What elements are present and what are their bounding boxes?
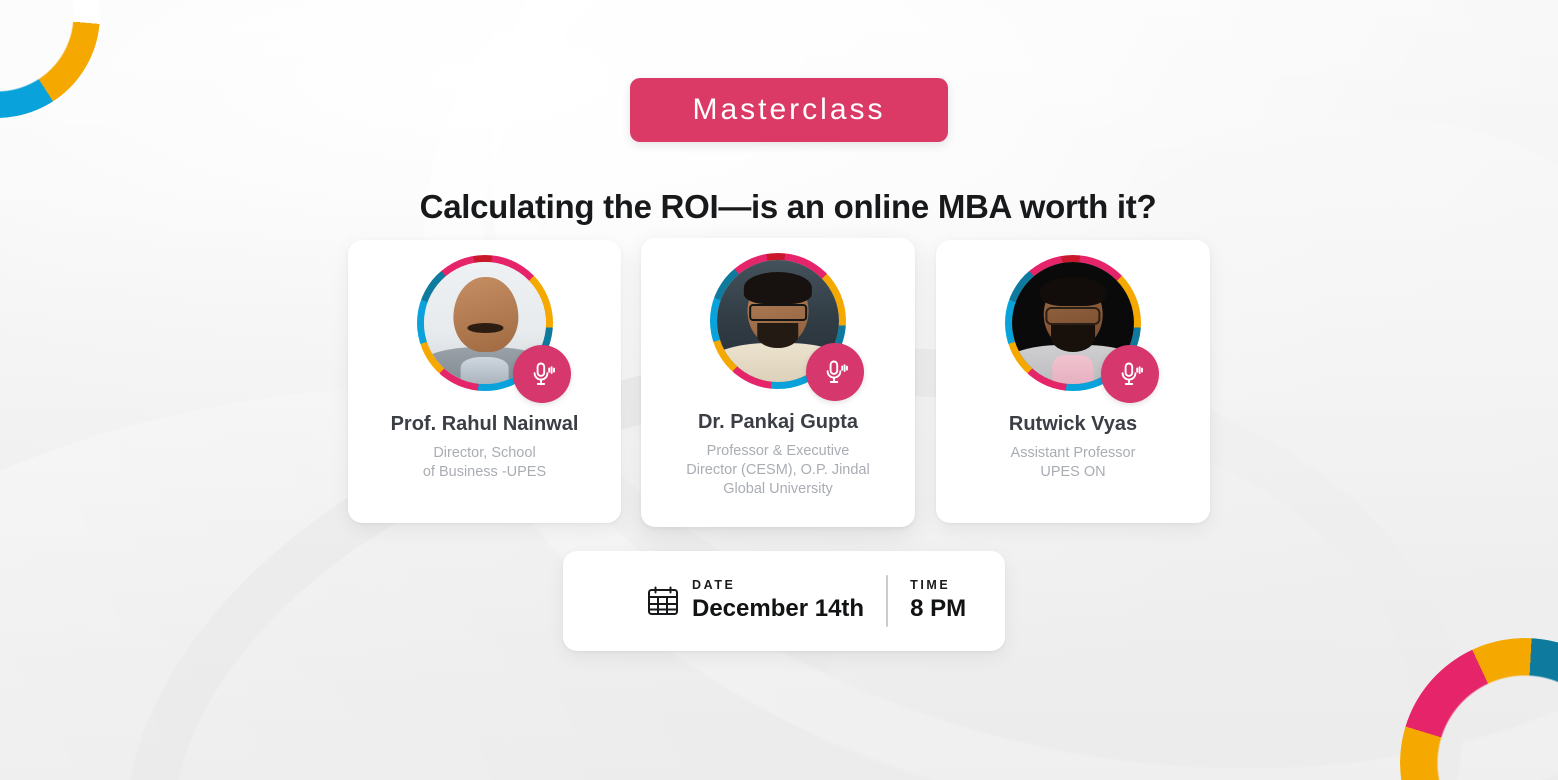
time-block: TIME 8 PM <box>910 578 966 624</box>
speaker-role: Assistant Professor UPES ON <box>997 444 1150 482</box>
schedule-panel: DATE December 14th TIME 8 PM <box>563 551 1005 651</box>
speaker-name: Rutwick Vyas <box>1009 413 1137 436</box>
masterclass-badge: Masterclass <box>630 78 948 142</box>
speaker-card: Prof. Rahul Nainwal Director, School of … <box>348 240 621 523</box>
speaker-role: Director, School of Business -UPES <box>409 444 560 482</box>
time-value: 8 PM <box>910 594 966 624</box>
speaker-card: Rutwick Vyas Assistant Professor UPES ON <box>936 240 1210 523</box>
page-title: Calculating the ROI—is an online MBA wor… <box>0 188 1558 226</box>
speakers-list: Prof. Rahul Nainwal Director, School of … <box>0 238 1558 538</box>
date-label: DATE <box>692 578 864 593</box>
calendar-icon <box>646 584 680 618</box>
microphone-icon <box>513 345 571 403</box>
avatar <box>710 253 846 389</box>
poster-canvas: Masterclass Calculating the ROI—is an on… <box>0 0 1558 780</box>
date-value: December 14th <box>692 594 864 624</box>
microphone-icon <box>806 343 864 401</box>
speaker-name: Dr. Pankaj Gupta <box>698 411 858 434</box>
masterclass-badge-label: Masterclass <box>692 93 885 127</box>
speaker-role: Professor & Executive Director (CESM), O… <box>672 442 883 499</box>
avatar <box>417 255 553 391</box>
avatar <box>1005 255 1141 391</box>
microphone-icon <box>1101 345 1159 403</box>
date-block: DATE December 14th <box>692 578 864 624</box>
divider <box>886 575 888 627</box>
time-label: TIME <box>910 578 966 593</box>
speaker-name: Prof. Rahul Nainwal <box>391 413 579 436</box>
speaker-card: Dr. Pankaj Gupta Professor & Executive D… <box>641 238 915 527</box>
